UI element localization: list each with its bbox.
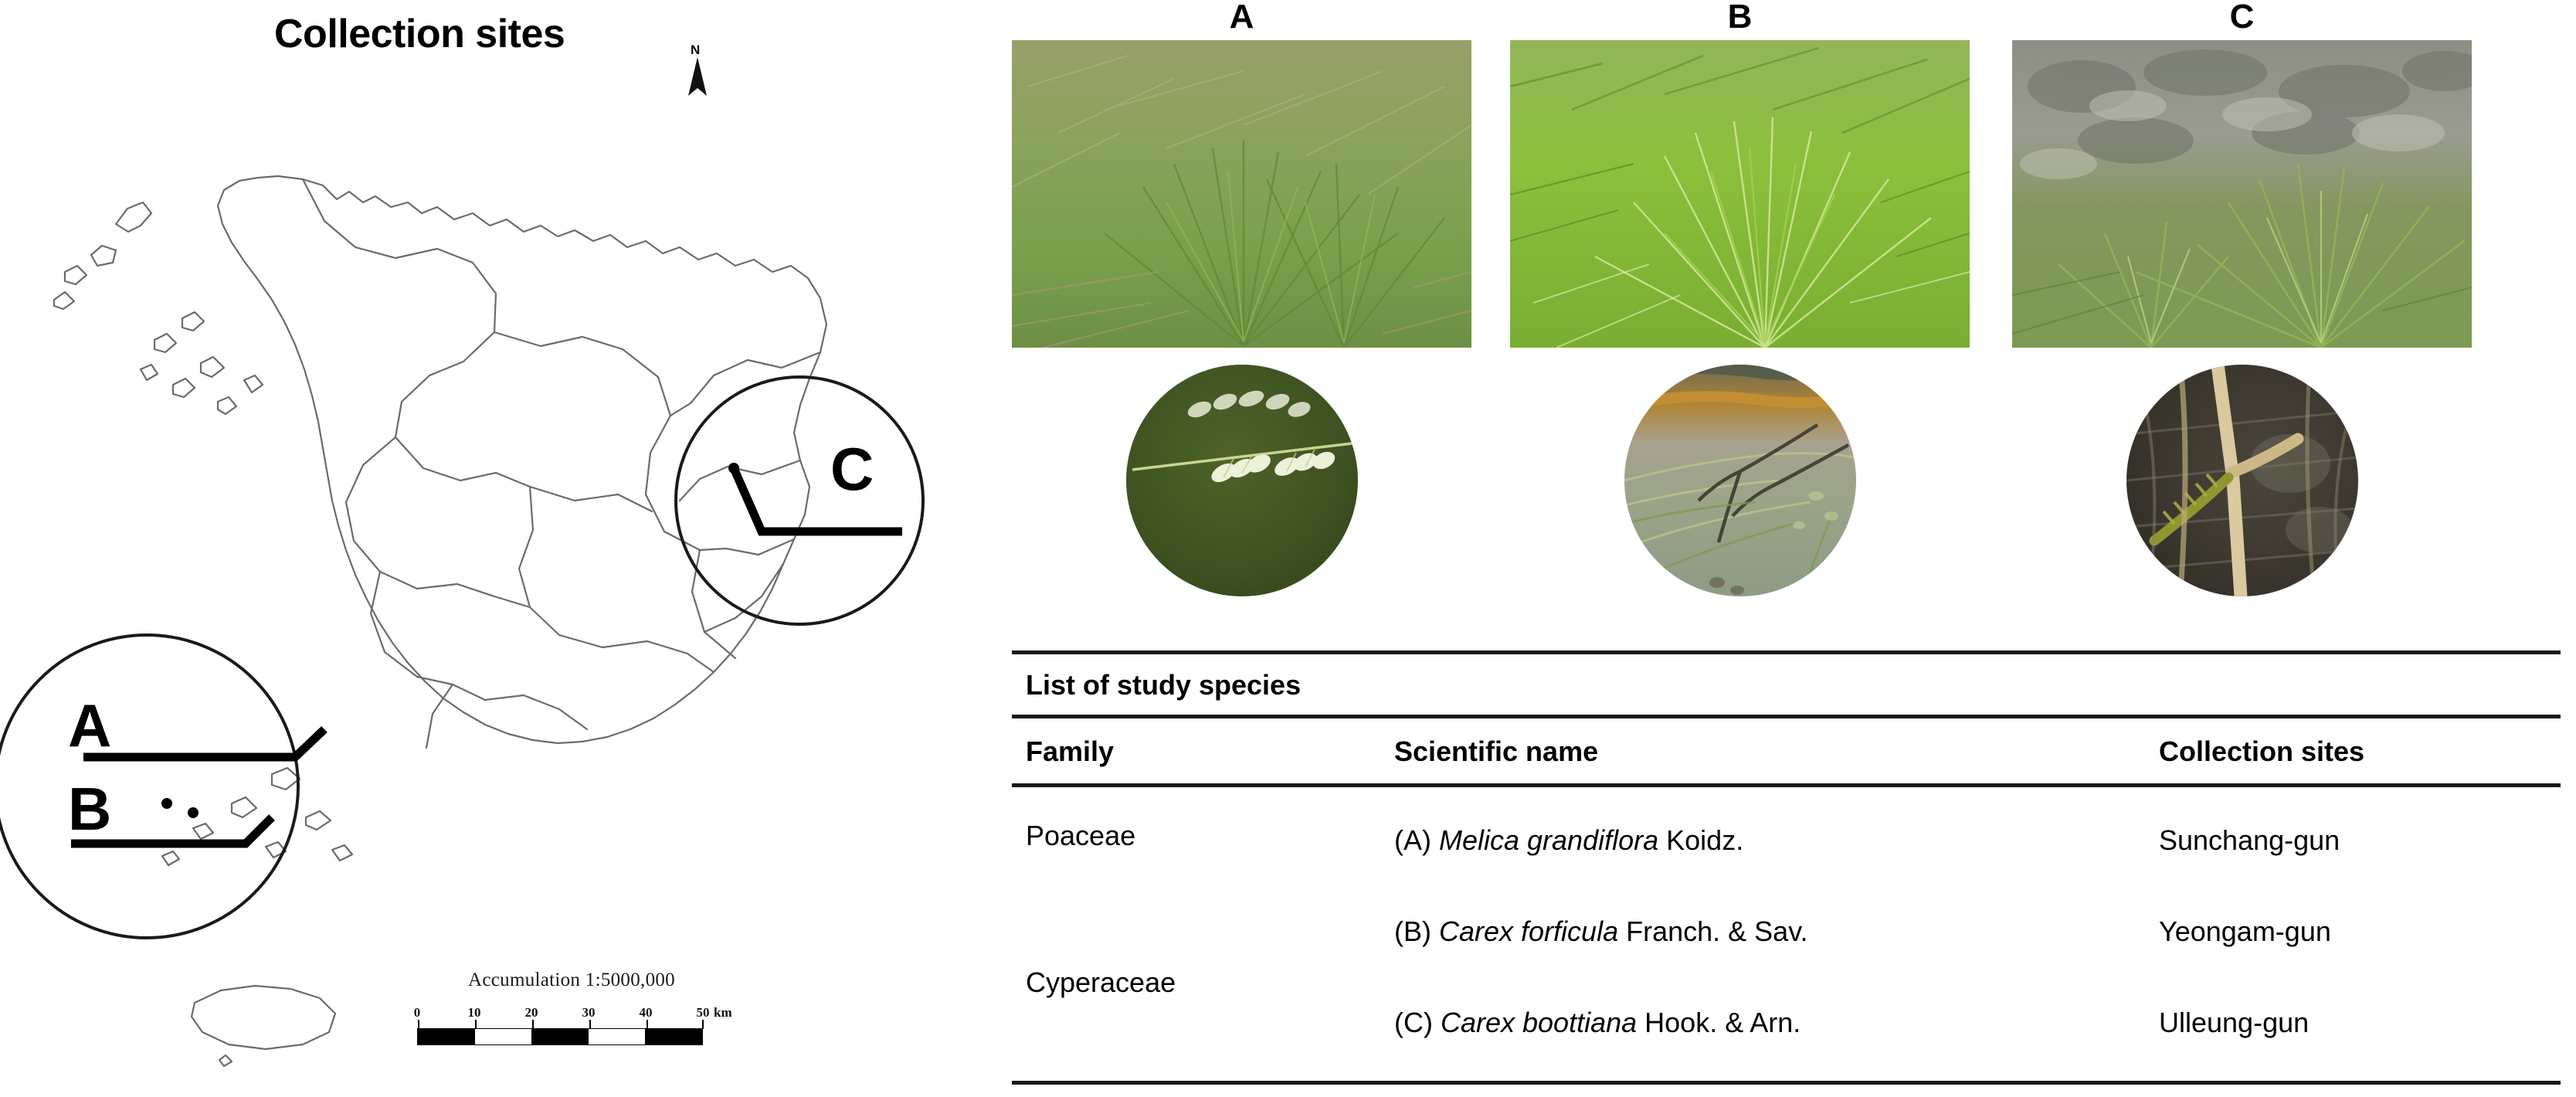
map-scalebar: Accumulation 1:5000,000 0 10 20 30 40 50… (417, 970, 726, 1045)
scientific-name-cell-c: (C) Carex boottiana Hook. & Arn. (1394, 1007, 2159, 1039)
species-binomial-c: Carex boottiana (1441, 1007, 1637, 1038)
inset-wrap-b (1510, 365, 1970, 620)
map-callouts-overlay (0, 0, 996, 1097)
species-prefix-a: (A) (1394, 824, 1439, 856)
scalebar-graphic (417, 1028, 703, 1045)
map-panel: Collection sites N (0, 0, 996, 1097)
scalebar-tick-40: 40 (640, 1005, 653, 1021)
scalebar-caption: Accumulation 1:5000,000 (417, 970, 726, 991)
species-prefix-c: (C) (1394, 1007, 1441, 1038)
species-binomial-a: Melica grandiflora (1439, 824, 1658, 856)
species-column-a: A (1012, 0, 1471, 620)
species-column-c: C (2012, 0, 2472, 620)
table-row: (B) Carex forficula Franch. & Sav. Yeong… (1012, 886, 2561, 977)
photo-letter-b: B (1510, 0, 1970, 40)
habitat-photo-c (2012, 40, 2472, 348)
photo-letter-c: C (2012, 0, 2472, 40)
habitat-photo-b (1510, 40, 1970, 348)
inset-wrap-c (2012, 365, 2472, 620)
scalebar-tick-0: 0 (414, 1005, 421, 1021)
figure-root: Collection sites N (0, 0, 2576, 1097)
collection-site-cell-b: Yeongam-gun (2159, 915, 2561, 948)
scientific-name-cell-b: (B) Carex forficula Franch. & Sav. (1394, 915, 2159, 948)
table-header-row: Family Scientific name Collection sites (1012, 718, 2561, 783)
scalebar-tick-30: 30 (582, 1005, 596, 1021)
collection-site-cell-c: Ulleung-gun (2159, 1007, 2561, 1039)
column-header-collection-sites: Collection sites (2159, 735, 2561, 768)
scalebar-tick-50: 50 (697, 1005, 710, 1021)
right-panel: A (996, 0, 2576, 1097)
callout-label-c: C (830, 439, 874, 499)
species-authority-c: Hook. & Arn. (1637, 1007, 1800, 1038)
scalebar-unit: km (714, 1005, 732, 1021)
species-table: List of study species Family Scientific … (1012, 650, 2561, 1085)
table-rule-bottom (1012, 1081, 2561, 1085)
scientific-name-cell-a: (A) Melica grandiflora Koidz. (1394, 824, 2159, 857)
species-column-b: B (1510, 0, 1970, 620)
inset-wrap-a (1012, 365, 1471, 620)
family-cell-cyperaceae: Cyperaceae (1026, 966, 1176, 999)
column-header-scientific-name: Scientific name (1394, 735, 2159, 768)
family-cell-poaceae: Poaceae (1026, 820, 1135, 852)
callout-label-a: A (68, 695, 111, 756)
habitat-photo-a (1012, 40, 1471, 348)
species-authority-a: Koidz. (1658, 824, 1743, 856)
table-row: (C) Carex boottiana Hook. & Arn. Ulleung… (1012, 977, 2561, 1068)
inset-photo-a (1126, 365, 1358, 596)
table-body: Poaceae Cyperaceae (A) Melica grandiflor… (1012, 787, 2561, 1081)
collection-site-cell-a: Sunchang-gun (2159, 824, 2561, 857)
column-header-family: Family (1012, 735, 1394, 768)
species-authority-b: Franch. & Sav. (1618, 915, 1807, 947)
table-caption: List of study species (1012, 654, 2561, 715)
photo-letter-a: A (1012, 0, 1471, 40)
scalebar-ticks: 0 10 20 30 40 50 km (417, 1005, 726, 1025)
scalebar-tick-10: 10 (468, 1005, 481, 1021)
table-row: (A) Melica grandiflora Koidz. Sunchang-g… (1012, 795, 2561, 886)
species-prefix-b: (B) (1394, 915, 1439, 947)
inset-photo-c (2126, 365, 2358, 596)
inset-photo-b (1624, 365, 1856, 596)
scalebar-tick-20: 20 (525, 1005, 538, 1021)
species-binomial-b: Carex forficula (1439, 915, 1618, 947)
callout-label-b: B (68, 779, 111, 839)
